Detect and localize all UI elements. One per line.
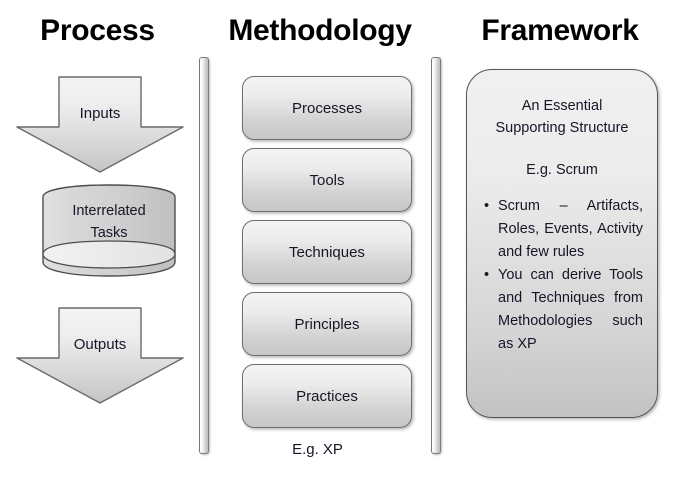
methodology-caption: E.g. XP — [205, 441, 430, 458]
cylinder-interrelated-tasks: Interrelated Tasks — [41, 184, 177, 278]
cylinder-label-line2: Tasks — [41, 222, 177, 244]
methodology-item-label: Tools — [309, 172, 344, 189]
methodology-item-tools: Tools — [242, 148, 412, 212]
down-arrow-inputs: Inputs — [15, 76, 185, 174]
framework-line-3: E.g. Scrum — [479, 159, 645, 181]
methodology-item-practices: Practices — [242, 364, 412, 428]
framework-bullet-item: You can derive Tools and Techniques from… — [495, 264, 643, 356]
methodology-item-label: Practices — [296, 388, 358, 405]
framework-bullet-item: Scrum – Artifacts, Roles, Events, Activi… — [495, 195, 643, 264]
vertical-divider-left — [199, 57, 209, 454]
column-heading-methodology: Methodology — [205, 14, 435, 48]
vertical-divider-right — [431, 57, 441, 454]
methodology-item-label: Techniques — [289, 244, 365, 261]
down-arrow-outputs: Outputs — [15, 307, 185, 405]
framework-bullet-list: Scrum – Artifacts, Roles, Events, Activi… — [479, 195, 645, 356]
down-arrow-icon — [15, 76, 185, 174]
methodology-item-processes: Processes — [242, 76, 412, 140]
framework-spacer — [479, 139, 645, 159]
methodology-item-techniques: Techniques — [242, 220, 412, 284]
column-heading-process: Process — [0, 14, 195, 48]
down-arrow-icon — [15, 307, 185, 405]
column-heading-framework: Framework — [445, 14, 675, 48]
cylinder-label: Interrelated Tasks — [41, 200, 177, 244]
framework-panel: An Essential Supporting Structure E.g. S… — [466, 69, 658, 418]
framework-spacer-2 — [479, 181, 645, 195]
framework-line-1: An Essential — [479, 95, 645, 117]
framework-line-2: Supporting Structure — [479, 117, 645, 139]
cylinder-label-line1: Interrelated — [41, 200, 177, 222]
methodology-item-label: Processes — [292, 100, 362, 117]
methodology-item-principles: Principles — [242, 292, 412, 356]
methodology-item-label: Principles — [294, 316, 359, 333]
